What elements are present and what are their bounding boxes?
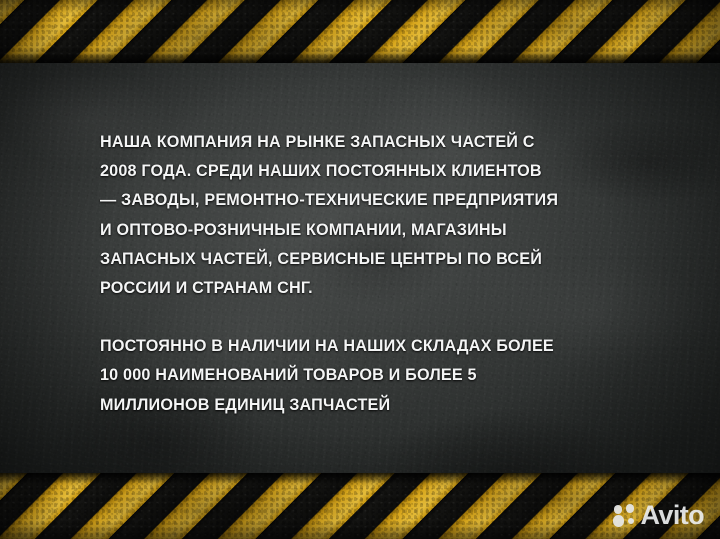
- avito-wordmark: Avito: [641, 502, 705, 529]
- avito-dot-medium-right: [626, 504, 635, 513]
- avito-dot-medium-top: [614, 505, 623, 514]
- hazard-edge-shadow-bottom: [0, 473, 720, 483]
- hazard-stripe-band-top: [0, 0, 720, 63]
- avito-dot-small: [628, 518, 634, 524]
- hazard-edge-shadow-top: [0, 53, 720, 63]
- promo-copy-block: НАША КОМПАНИЯ НА РЫНКЕ ЗАПАСНЫХ ЧАСТЕЙ С…: [100, 128, 660, 420]
- promo-banner: НАША КОМПАНИЯ НА РЫНКЕ ЗАПАСНЫХ ЧАСТЕЙ С…: [0, 0, 720, 539]
- avito-dots-icon: [613, 504, 636, 527]
- promo-paragraph-company-profile: НАША КОМПАНИЯ НА РЫНКЕ ЗАПАСНЫХ ЧАСТЕЙ С…: [100, 128, 660, 303]
- avito-watermark: Avito: [613, 502, 705, 529]
- promo-paragraph-stock-figures: ПОСТОЯННО В НАЛИЧИИ НА НАШИХ СКЛАДАХ БОЛ…: [100, 332, 660, 420]
- avito-dot-large: [613, 515, 625, 527]
